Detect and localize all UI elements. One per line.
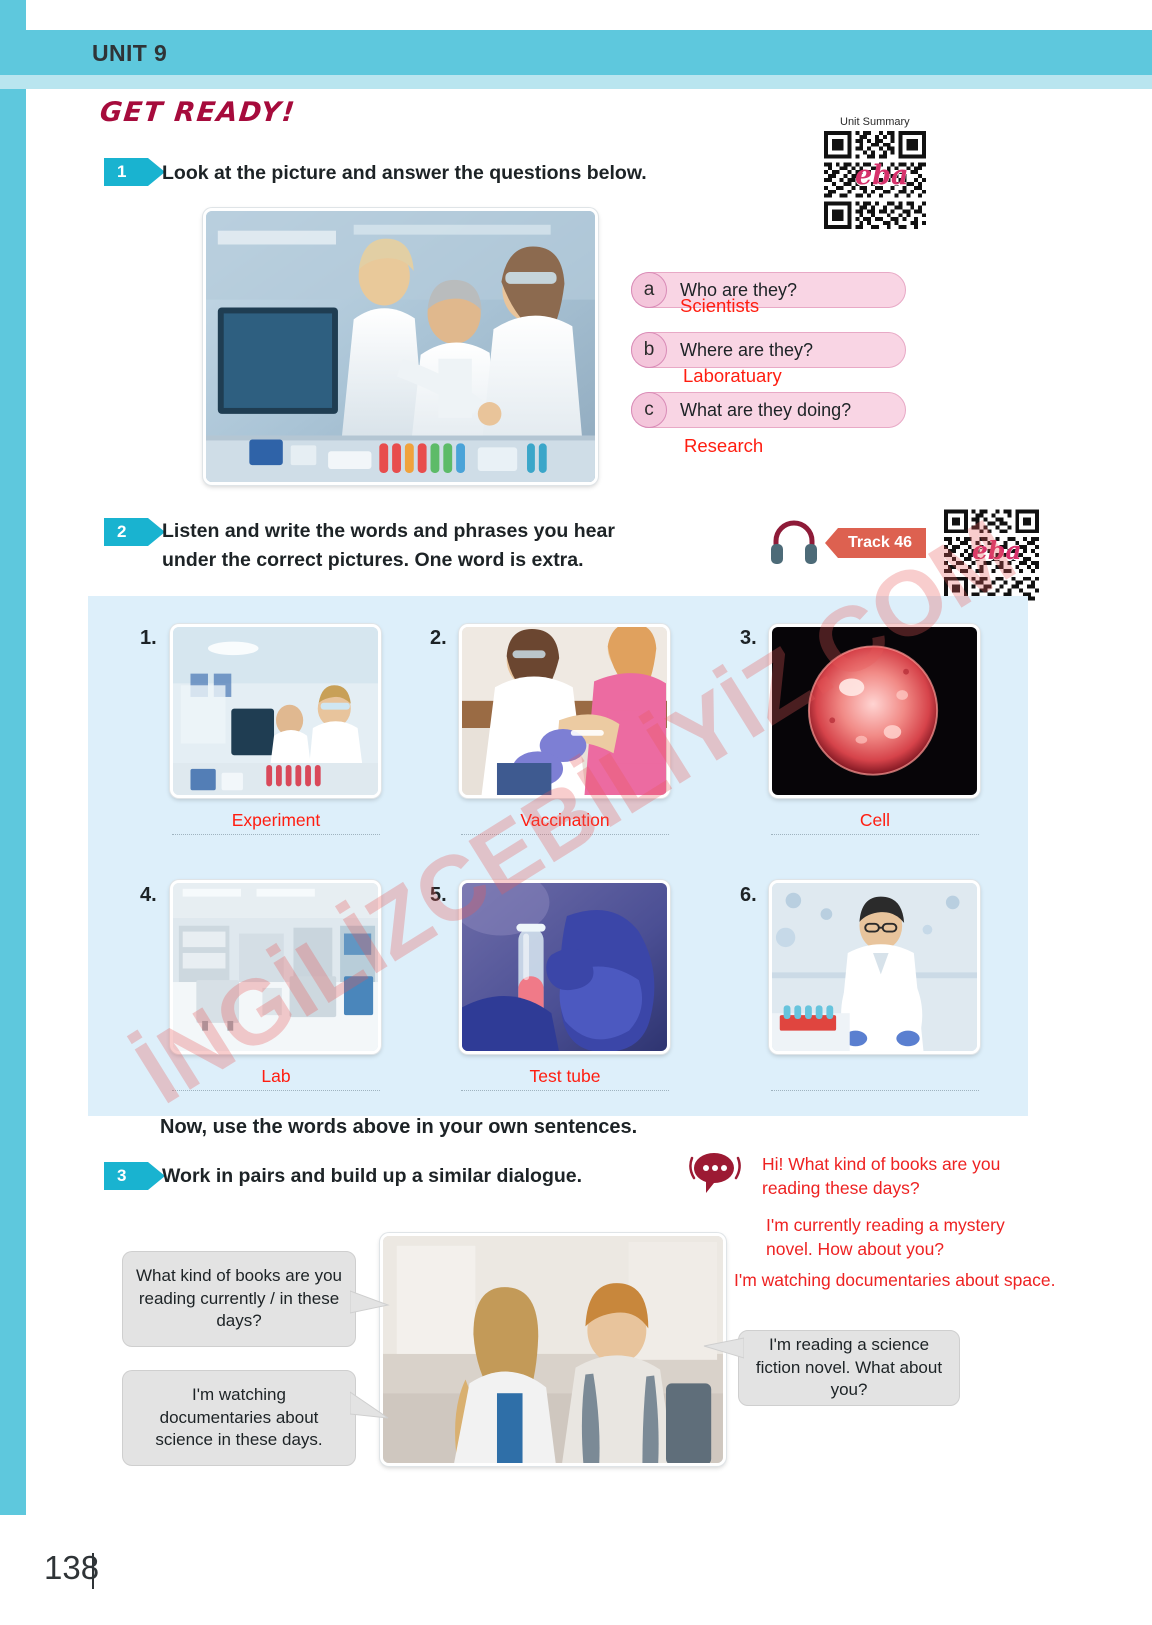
picture-4-lab: [170, 880, 381, 1054]
exercise-3-instruction: Work in pairs and build up a similar dia…: [162, 1163, 722, 1191]
picture-6-answer-line[interactable]: [771, 1090, 979, 1091]
students-talking-photo: [380, 1233, 726, 1466]
question-c-text: What are they doing?: [680, 400, 851, 421]
exercise-1-number-label: 1: [117, 162, 126, 182]
page-footer: [0, 1515, 1152, 1625]
dialogue-bubble-left-bottom: I'm watching documentaries about science…: [122, 1370, 356, 1466]
picture-2-label[interactable]: Vaccination: [461, 810, 669, 831]
question-c: c What are they doing?: [631, 392, 906, 428]
speech-bubble-icon: [688, 1148, 744, 1201]
question-c-answer[interactable]: Research: [684, 435, 763, 457]
question-b-text: Where are they?: [680, 340, 813, 361]
picture-4-answer-line[interactable]: [172, 1090, 380, 1091]
question-b-letter: b: [631, 332, 667, 368]
question-c-letter: c: [631, 392, 667, 428]
question-a-letter: a: [631, 272, 667, 308]
dialogue-bubble-left-top: What kind of books are you reading curre…: [122, 1251, 356, 1347]
dialogue-note-2: I'm currently reading a mystery novel. H…: [766, 1214, 1056, 1262]
exercise-2-instruction-line-2: under the correct pictures. One word is …: [162, 547, 762, 575]
picture-6-number: 6.: [740, 884, 757, 907]
page-number-rule: [92, 1553, 94, 1589]
dialogue-note-1: Hi! What kind of books are you reading t…: [762, 1153, 1052, 1201]
picture-5-number: 5.: [430, 884, 447, 907]
dialogue-note-3: I'm watching documentaries about space.: [734, 1269, 1064, 1293]
footer-left-gutter: [0, 1515, 26, 1625]
unit-header-band-light: [0, 75, 1152, 89]
exercise-1-number: 1: [104, 158, 148, 186]
unit-header-band: [0, 30, 1152, 75]
picture-1-answer-line[interactable]: [172, 834, 380, 835]
picture-4-label[interactable]: Lab: [172, 1066, 380, 1087]
bubble-tail-right: [700, 1332, 744, 1372]
exercise-2-instruction-line-1: Listen and write the words and phrases y…: [162, 518, 762, 546]
picture-6-scientist: [769, 880, 980, 1054]
question-a: a Who are they?: [631, 272, 906, 308]
picture-3-answer-line[interactable]: [771, 834, 979, 835]
picture-3-number: 3.: [740, 627, 757, 650]
picture-5-label[interactable]: Test tube: [461, 1066, 669, 1087]
question-a-answer[interactable]: Scientists: [680, 295, 759, 317]
bubble-tail-left-top: [350, 1285, 390, 1325]
picture-4-number: 4.: [140, 884, 157, 907]
eba-brand-mark-top: eba: [855, 160, 909, 191]
section-title: GET READY!: [98, 97, 297, 128]
dialogue-bubble-right: I'm reading a science fiction novel. Wha…: [738, 1330, 960, 1406]
picture-2-answer-line[interactable]: [461, 834, 669, 835]
exercise-1-instruction: Look at the picture and answer the quest…: [162, 160, 802, 188]
question-b: b Where are they?: [631, 332, 906, 368]
picture-2-vaccination: [459, 624, 670, 798]
eba-brand-mark-track: eba: [972, 536, 1022, 565]
exercise-2-footer-note: Now, use the words above in your own sen…: [160, 1116, 637, 1139]
left-teal-rail: [0, 0, 26, 1625]
exercise-2-number-label: 2: [117, 522, 126, 542]
picture-2-number: 2.: [430, 627, 447, 650]
picture-1-number: 1.: [140, 627, 157, 650]
bubble-tail-left-bottom: [350, 1388, 390, 1432]
lab-team-photo: [203, 208, 598, 485]
unit-summary-qr-label: Unit Summary: [840, 116, 910, 128]
headphones-icon: [768, 513, 820, 570]
track-badge-label: Track 46: [848, 534, 912, 552]
picture-3-cell: [769, 624, 980, 798]
unit-title: UNIT 9: [92, 40, 167, 67]
exercise-2-number: 2: [104, 518, 148, 546]
exercise-3-number-label: 3: [117, 1166, 126, 1186]
picture-1-label[interactable]: Experiment: [172, 810, 380, 831]
picture-5-test-tube: [459, 880, 670, 1054]
track-badge[interactable]: Track 46: [838, 528, 926, 558]
left-white-gutter: [26, 0, 38, 1625]
question-b-answer[interactable]: Laboratuary: [683, 365, 782, 387]
workbook-page: UNIT 9 GET READY! 1 Look at the picture …: [0, 0, 1152, 1625]
picture-3-label[interactable]: Cell: [771, 810, 979, 831]
exercise-3-number: 3: [104, 1162, 148, 1190]
picture-1-experiment: [170, 624, 381, 798]
page-number: 138: [44, 1549, 99, 1587]
picture-5-answer-line[interactable]: [461, 1090, 669, 1091]
